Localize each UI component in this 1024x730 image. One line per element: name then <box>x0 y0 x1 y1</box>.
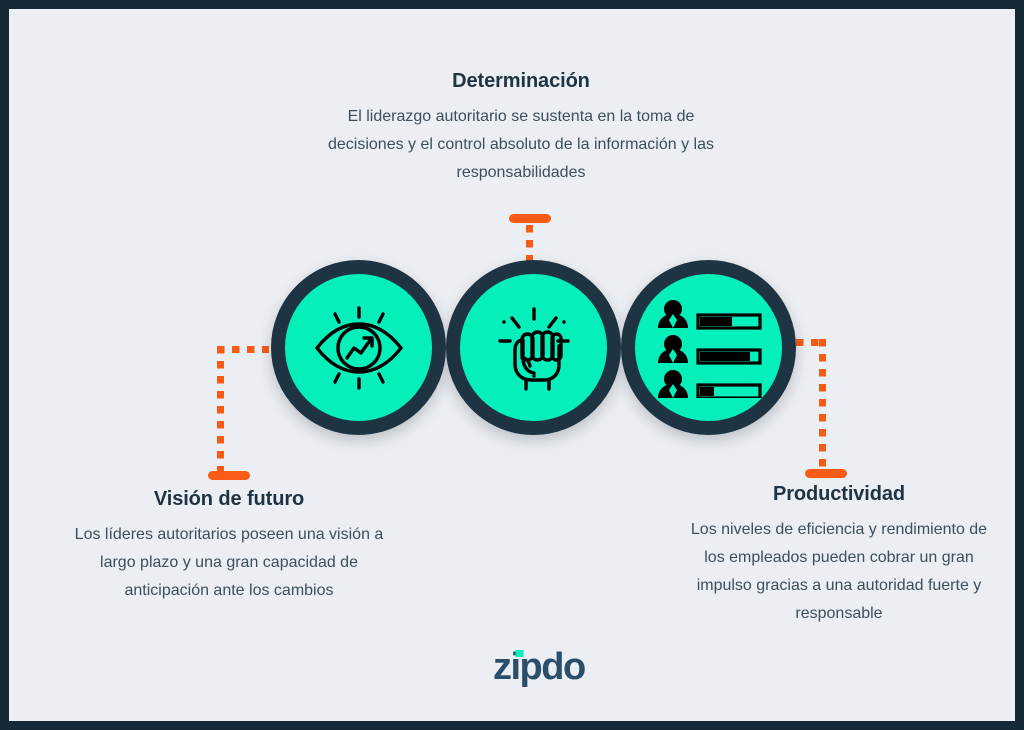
icon-circle-determination <box>446 260 621 435</box>
progress-bar-3 <box>698 385 760 398</box>
connector-top-vertical <box>526 225 533 265</box>
marker-bar-right <box>805 469 847 478</box>
connector-right-vertical <box>819 339 826 470</box>
zipdo-logo-dot <box>516 650 524 657</box>
section-top: Determinación El liderazgo autoritario s… <box>321 69 721 187</box>
icon-circle-vision <box>271 260 446 435</box>
progress-bar-2 <box>698 350 760 363</box>
marker-bar-top <box>509 214 551 223</box>
raised-fist-icon <box>482 296 586 400</box>
section-right-title: Productividad <box>679 482 999 506</box>
connector-left-vertical <box>217 346 224 471</box>
section-top-body: El liderazgo autoritario se sustenta en … <box>321 103 721 187</box>
people-progress-bars-icon <box>654 298 764 398</box>
zipdo-logo: zipdo <box>493 646 605 688</box>
infographic-canvas: Determinación El liderazgo autoritario s… <box>9 9 1015 721</box>
zipdo-logo-text: zipdo <box>493 646 585 688</box>
section-left-body: Los líderes autoritarios poseen una visi… <box>59 521 399 605</box>
section-top-title: Determinación <box>321 69 721 93</box>
section-right-body: Los niveles de eficiencia y rendimiento … <box>679 516 999 628</box>
progress-bar-1 <box>698 315 760 328</box>
connector-left-horizontal <box>217 346 269 353</box>
icon-circle-productivity <box>621 260 796 435</box>
section-left: Visión de futuro Los líderes autoritario… <box>59 487 399 605</box>
section-right: Productividad Los niveles de eficiencia … <box>679 482 999 628</box>
eye-trending-arrow-icon <box>307 296 411 400</box>
marker-bar-left <box>208 471 250 480</box>
section-left-title: Visión de futuro <box>59 487 399 511</box>
